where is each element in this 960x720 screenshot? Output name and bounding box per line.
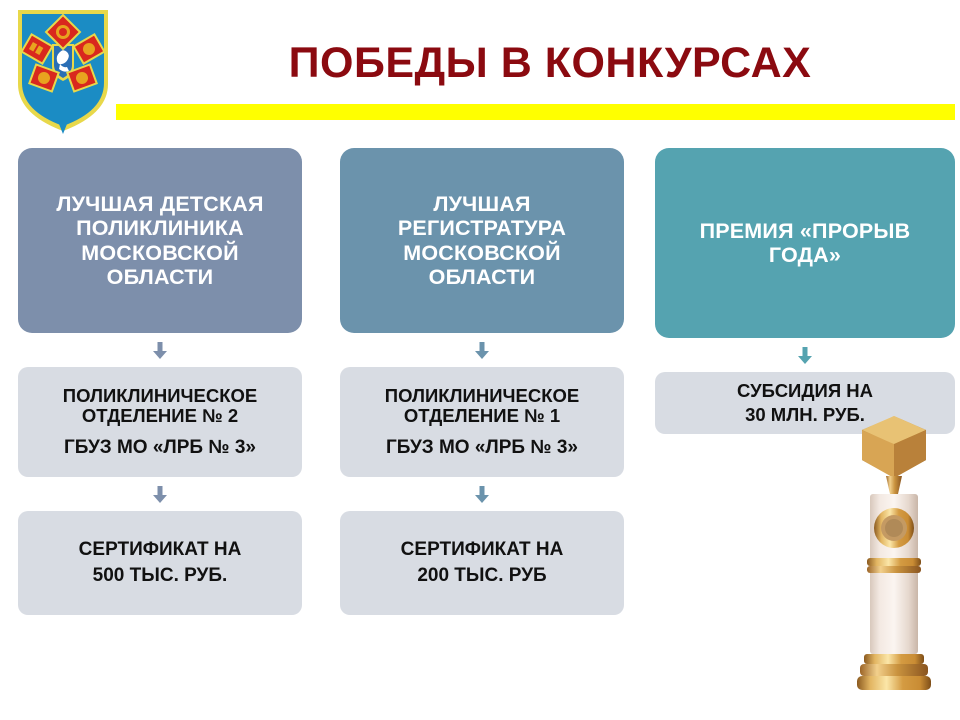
slide-canvas: ПОБЕДЫ В КОНКУРСАХ ЛУЧШАЯ ДЕТСКАЯ ПОЛИКЛ… bbox=[0, 0, 960, 720]
award-column-2: ЛУЧШАЯ РЕГИСТРАТУРА МОСКОВСКОЙ ОБЛАСТИ П… bbox=[340, 148, 624, 615]
recipient-line-1: ПОЛИКЛИНИЧЕСКОЕ ОТДЕЛЕНИЕ № 2 bbox=[24, 386, 296, 427]
recipient-line-2: ГБУЗ МО «ЛРБ № 3» bbox=[386, 437, 578, 458]
arrow-down-icon-2b bbox=[340, 477, 624, 511]
prize-line-1: СУБСИДИЯ НА bbox=[737, 379, 873, 403]
recipient-line-1: ПОЛИКЛИНИЧЕСКОЕ ОТДЕЛЕНИЕ № 1 bbox=[346, 386, 618, 427]
prize-line-2: 500 ТЫС. РУБ. bbox=[93, 563, 228, 589]
page-title: ПОБЕДЫ В КОНКУРСАХ bbox=[150, 42, 950, 85]
gold-trophy-award-image bbox=[840, 408, 948, 708]
prize-line-1: СЕРТИФИКАТ НА bbox=[401, 537, 564, 563]
moscow-region-coat-of-arms-icon bbox=[14, 6, 112, 134]
award-title-box-1[interactable]: ЛУЧШАЯ ДЕТСКАЯ ПОЛИКЛИНИКА МОСКОВСКОЙ ОБ… bbox=[18, 148, 302, 333]
recipient-line-2: ГБУЗ МО «ЛРБ № 3» bbox=[64, 437, 256, 458]
award-prize-box-1[interactable]: СЕРТИФИКАТ НА 500 ТЫС. РУБ. bbox=[18, 511, 302, 615]
award-recipient-box-1[interactable]: ПОЛИКЛИНИЧЕСКОЕ ОТДЕЛЕНИЕ № 2 ГБУЗ МО «Л… bbox=[18, 367, 302, 477]
arrow-down-icon-2a bbox=[340, 333, 624, 367]
award-prize-box-2[interactable]: СЕРТИФИКАТ НА 200 ТЫС. РУБ bbox=[340, 511, 624, 615]
arrow-down-icon-3a bbox=[655, 338, 955, 372]
award-title-box-2[interactable]: ЛУЧШАЯ РЕГИСТРАТУРА МОСКОВСКОЙ ОБЛАСТИ bbox=[340, 148, 624, 333]
prize-line-1: СЕРТИФИКАТ НА bbox=[79, 537, 242, 563]
award-title-box-3[interactable]: ПРЕМИЯ «ПРОРЫВ ГОДА» bbox=[655, 148, 955, 338]
prize-line-2: 200 ТЫС. РУБ bbox=[417, 563, 546, 589]
award-column-3: ПРЕМИЯ «ПРОРЫВ ГОДА» СУБСИДИЯ НА 30 МЛН.… bbox=[655, 148, 955, 434]
arrow-down-icon-1a bbox=[18, 333, 302, 367]
award-column-1: ЛУЧШАЯ ДЕТСКАЯ ПОЛИКЛИНИКА МОСКОВСКОЙ ОБ… bbox=[18, 148, 302, 615]
title-underline-bar bbox=[116, 104, 955, 120]
arrow-down-icon-1b bbox=[18, 477, 302, 511]
award-recipient-box-2[interactable]: ПОЛИКЛИНИЧЕСКОЕ ОТДЕЛЕНИЕ № 1 ГБУЗ МО «Л… bbox=[340, 367, 624, 477]
